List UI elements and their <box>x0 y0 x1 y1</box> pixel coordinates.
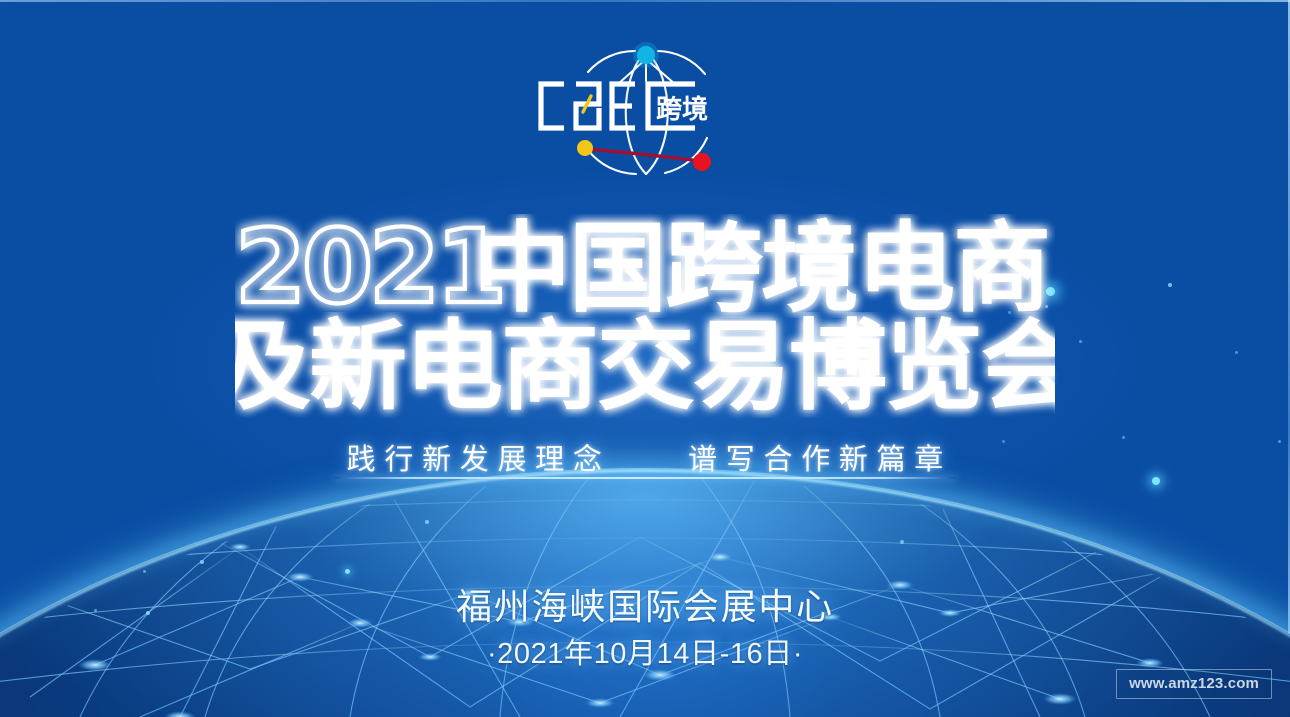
title-line-2: 及新电商交易博览会 <box>0 312 1290 418</box>
logo-dot-red <box>693 153 711 171</box>
cbec-globe-logo: 跨境 <box>515 34 775 199</box>
logo-dot-cyan-glow <box>633 42 659 68</box>
logo-connector-line <box>587 149 701 161</box>
logo-dot-yellow <box>577 140 593 156</box>
title-line2-text: 及新电商交易博览会 <box>235 312 1055 418</box>
particle <box>345 569 350 574</box>
watermark: www.amz123.com <box>1116 669 1272 699</box>
title-line-1: 2021 中国跨境电商 <box>0 214 1290 318</box>
subtitle-underline <box>334 477 956 479</box>
venue-name: 福州海峡国际会展中心 <box>0 578 1290 630</box>
main-title: 2021 中国跨境电商 及新电商交易博览会 <box>0 214 1290 418</box>
particle <box>900 540 904 544</box>
title-line1-cn: 中国跨境电商 <box>473 214 1049 318</box>
subtitle-left: 践行新发展理念 <box>347 444 611 476</box>
subtitle: 践行新发展理念 谱写合作新篇章 <box>0 436 1290 478</box>
logo-suffix-label: 跨境 <box>656 94 708 125</box>
particle <box>200 560 204 564</box>
particle <box>425 520 429 524</box>
particle <box>1152 477 1160 485</box>
poster-top-edge <box>0 0 1290 2</box>
title-year: 2021 <box>235 214 503 318</box>
event-date: ·2021年10月14日-16日· <box>0 630 1290 672</box>
subtitle-right: 谱写合作新篇章 <box>688 444 952 476</box>
particle <box>143 570 146 573</box>
event-poster: 跨境 2021 中国跨境电商 <box>0 0 1290 717</box>
